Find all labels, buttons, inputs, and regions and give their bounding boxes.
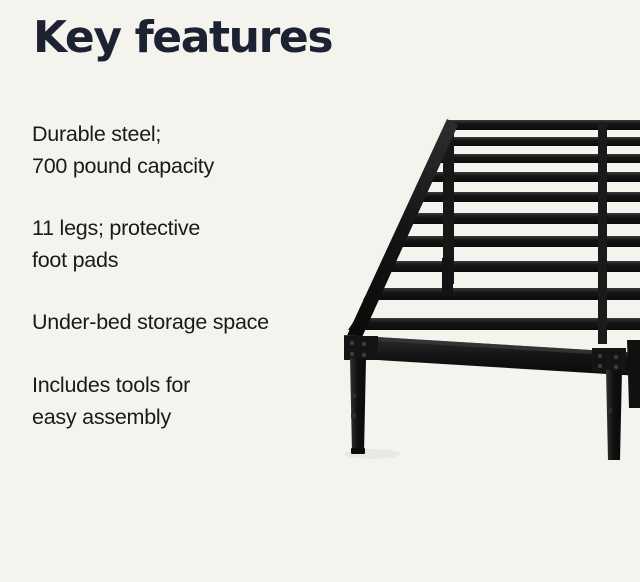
leg-bolt-icon (607, 408, 612, 413)
slat-deck (348, 120, 640, 344)
bolt-icon (362, 342, 366, 346)
feature-item-legs-foot-pads: 11 legs; protective foot pads (32, 213, 332, 276)
feature-card: Key features Durable steel; 700 pound ca… (0, 0, 640, 582)
feature-item-durable-steel: Durable steel; 700 pound capacity (32, 119, 332, 182)
leg-back-right (627, 340, 640, 408)
feature-item-includes-tools: Includes tools for easy assembly (32, 370, 332, 433)
leg-bolt-icon (351, 413, 356, 418)
bolt-icon (614, 355, 618, 359)
page-title: Key features (33, 13, 332, 62)
bolt-icon (350, 352, 354, 356)
centre-support-leg (442, 258, 453, 294)
right-support-rail (598, 122, 607, 344)
bolt-icon (614, 365, 618, 369)
bracket-plate (592, 348, 626, 372)
bracket-plate (344, 336, 378, 360)
bolt-icon (598, 354, 602, 358)
floor-shadow-group (344, 449, 640, 460)
leg-bolt-icon (351, 393, 356, 398)
leg-front-left (350, 358, 366, 453)
slat (348, 318, 640, 330)
bolt-icon (350, 341, 354, 345)
bed-frame-product-image (330, 108, 640, 460)
bed-frame-illustration (330, 108, 640, 460)
back-top-rail (447, 120, 640, 130)
leg-front-right (606, 370, 622, 460)
slat (437, 137, 640, 146)
left-side-rail-group (344, 119, 458, 346)
left-side-rail (344, 119, 458, 346)
feature-list: Durable steel; 700 pound capacity 11 leg… (32, 119, 332, 433)
corner-bracket-front-left (344, 336, 378, 360)
bolt-icon (598, 364, 602, 368)
corner-bracket-front-right (592, 348, 626, 372)
slat (429, 154, 640, 163)
feature-item-under-bed-storage: Under-bed storage space (32, 307, 332, 339)
foot-pad-front-left (351, 448, 365, 454)
bolt-icon (362, 353, 366, 357)
